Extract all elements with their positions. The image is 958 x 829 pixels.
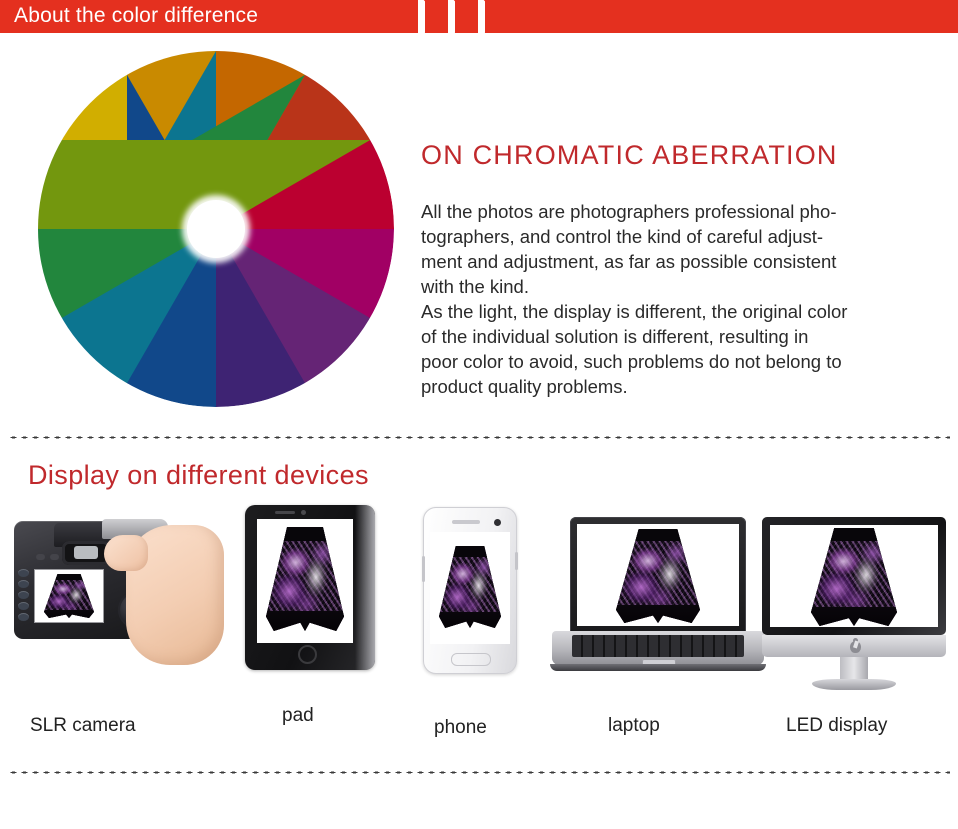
- device-label-laptop: laptop: [608, 715, 660, 737]
- body-line: ment and adjustment, as far as possible …: [421, 249, 921, 274]
- body-line: poor color to avoid, such problems do no…: [421, 349, 921, 374]
- device-label-slr-camera: SLR camera: [30, 715, 136, 737]
- device-phone: phone: [423, 507, 519, 677]
- tablet-body-icon: [245, 505, 375, 670]
- device-laptop: laptop: [550, 517, 770, 677]
- tablet-home-button[interactable]: [298, 645, 317, 664]
- chromatic-aberration-body: All the photos are photographers profess…: [421, 199, 921, 399]
- phone-screen-preview: [430, 532, 510, 644]
- device-label-phone: phone: [434, 717, 487, 739]
- phone-body-icon: [423, 507, 517, 674]
- section-banner-color-difference: About the color difference: [0, 0, 958, 33]
- camera-lcd-preview: [34, 569, 104, 623]
- phone-home-button[interactable]: [451, 653, 491, 666]
- monitor-screen-preview: [770, 525, 938, 627]
- apple-logo-icon: [850, 641, 861, 653]
- chromatic-aberration-headline: ON CHROMATIC ABERRATION: [421, 140, 838, 171]
- banner-title: About the color difference: [14, 4, 258, 28]
- product-detail-page: About the color difference ON CHROMATIC …: [0, 0, 958, 829]
- device-pad: pad: [245, 505, 380, 675]
- tablet-screen-preview: [257, 519, 353, 643]
- device-label-pad: pad: [282, 705, 314, 727]
- divider-top: [8, 436, 950, 439]
- hand-icon: [126, 525, 224, 665]
- chromatic-aberration-section: ON CHROMATIC ABERRATION All the photos a…: [0, 33, 958, 437]
- double-chevron-right-icon: [418, 0, 558, 33]
- body-line: tographers, and control the kind of care…: [421, 224, 921, 249]
- body-line: with the kind.: [421, 274, 921, 299]
- device-slr-camera: SLR camera: [6, 505, 236, 680]
- divider-bottom: [8, 771, 950, 774]
- monitor-bezel-icon: [762, 517, 946, 635]
- body-line: product quality problems.: [421, 374, 921, 399]
- body-line: All the photos are photographers profess…: [421, 199, 921, 224]
- device-label-led-display: LED display: [786, 715, 887, 737]
- laptop-lid-icon: [570, 517, 746, 633]
- laptop-keyboard-icon: [572, 635, 744, 657]
- devices-section-title: Display on different devices: [28, 460, 369, 491]
- body-line: of the individual solution is different,…: [421, 324, 921, 349]
- device-gallery: SLR camera pad: [0, 505, 958, 755]
- body-line: As the light, the display is different, …: [421, 299, 921, 324]
- color-wheel-hub: [187, 200, 245, 258]
- device-led-display: LED display: [762, 517, 952, 692]
- color-wheel-icon: [37, 50, 394, 407]
- laptop-screen-preview: [577, 524, 739, 626]
- camera-buttons-icon: [18, 569, 31, 625]
